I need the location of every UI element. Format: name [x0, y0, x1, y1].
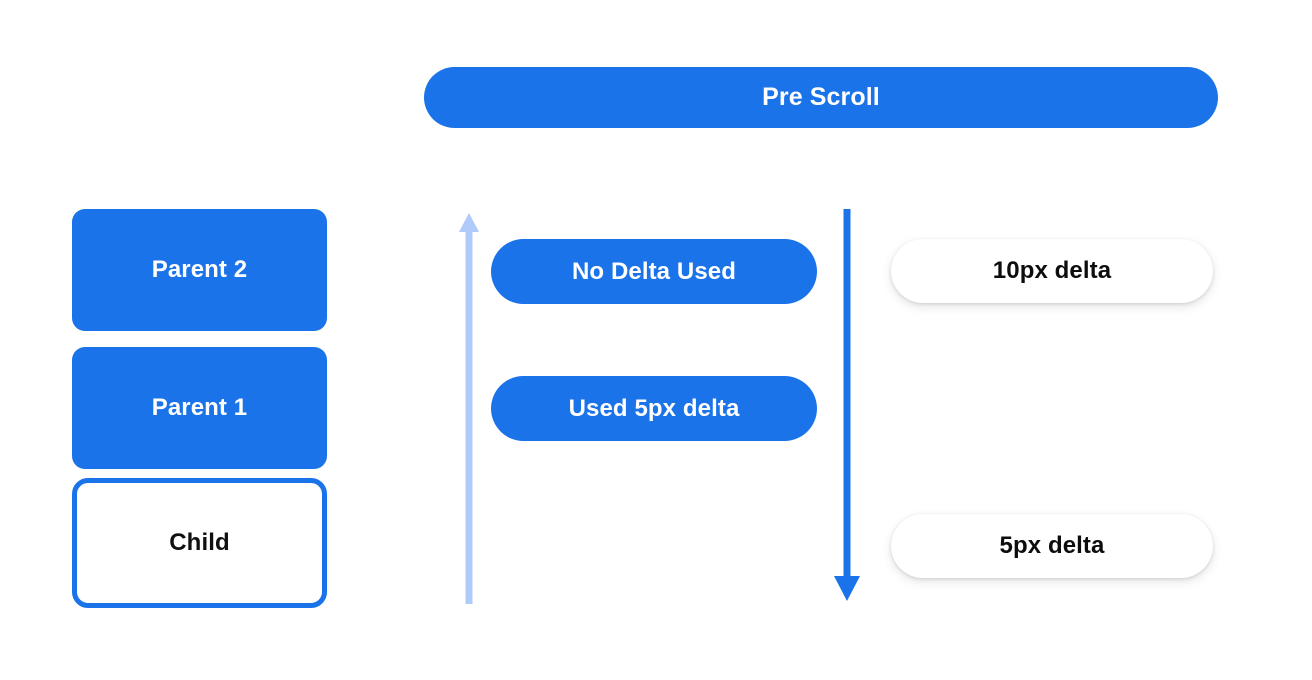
scroll-up-arrow-glyph: [452, 208, 486, 606]
pill-used-5px-delta: Used 5px delta: [491, 376, 817, 441]
box-parent-1-label: Parent 1: [152, 394, 248, 422]
scroll-down-arrow-glyph: [828, 205, 866, 605]
pill-10px-delta-label: 10px delta: [993, 257, 1111, 285]
box-parent-1: Parent 1: [72, 347, 327, 469]
scroll-down-arrow: [828, 205, 866, 610]
box-parent-2-label: Parent 2: [152, 256, 248, 284]
pre-scroll-header-pill: Pre Scroll: [424, 67, 1218, 128]
pill-10px-delta: 10px delta: [891, 239, 1213, 303]
pill-no-delta-used-label: No Delta Used: [572, 258, 736, 286]
pill-5px-delta: 5px delta: [891, 514, 1213, 578]
box-child-label: Child: [169, 529, 230, 557]
box-parent-2: Parent 2: [72, 209, 327, 331]
box-child: Child: [72, 478, 327, 608]
pre-scroll-header-label: Pre Scroll: [762, 83, 880, 112]
pill-no-delta-used: No Delta Used: [491, 239, 817, 304]
diagram-canvas: Pre Scroll Parent 2 Parent 1 Child No De…: [0, 0, 1312, 680]
scroll-up-arrow: [452, 208, 486, 611]
pill-used-5px-delta-label: Used 5px delta: [569, 395, 740, 423]
pill-5px-delta-label: 5px delta: [1000, 532, 1105, 560]
